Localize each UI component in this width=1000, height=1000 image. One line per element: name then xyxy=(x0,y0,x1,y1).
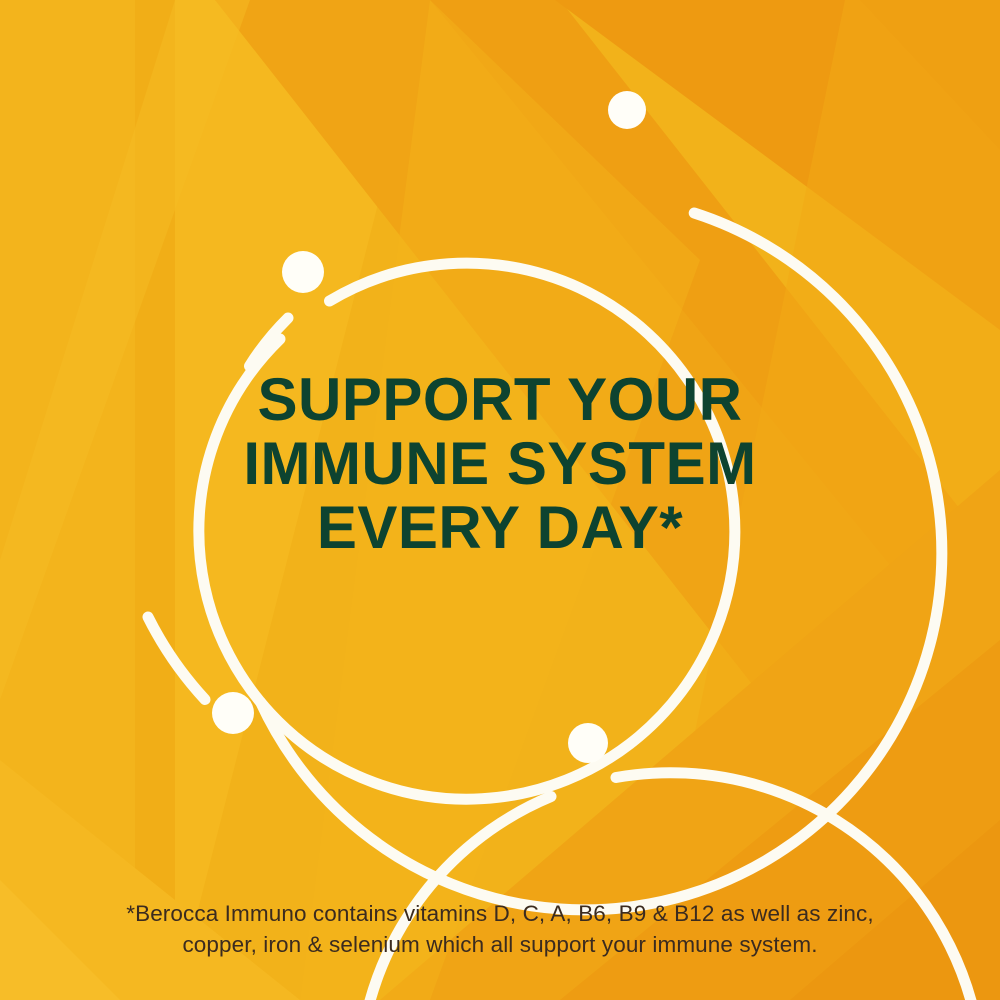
footnote-line-1: *Berocca Immuno contains vitamins D, C, … xyxy=(0,898,1000,929)
headline-line-1: SUPPORT YOUR xyxy=(0,368,1000,432)
outer-ring-arc-main xyxy=(261,213,942,910)
lower-left-dot xyxy=(212,692,254,734)
promo-graphic-canvas: SUPPORT YOUR IMMUNE SYSTEM EVERY DAY* *B… xyxy=(0,0,1000,1000)
top-dot xyxy=(608,91,646,129)
bottom-dot xyxy=(568,723,608,763)
footnote-line-2: copper, iron & selenium which all suppor… xyxy=(0,929,1000,960)
footnote-disclaimer: *Berocca Immuno contains vitamins D, C, … xyxy=(0,898,1000,960)
headline-line-2: IMMUNE SYSTEM xyxy=(0,432,1000,496)
upper-left-dot xyxy=(282,251,324,293)
outer-ring-arc-lower-left xyxy=(148,617,205,700)
headline: SUPPORT YOUR IMMUNE SYSTEM EVERY DAY* xyxy=(0,368,1000,560)
headline-line-3: EVERY DAY* xyxy=(0,496,1000,560)
